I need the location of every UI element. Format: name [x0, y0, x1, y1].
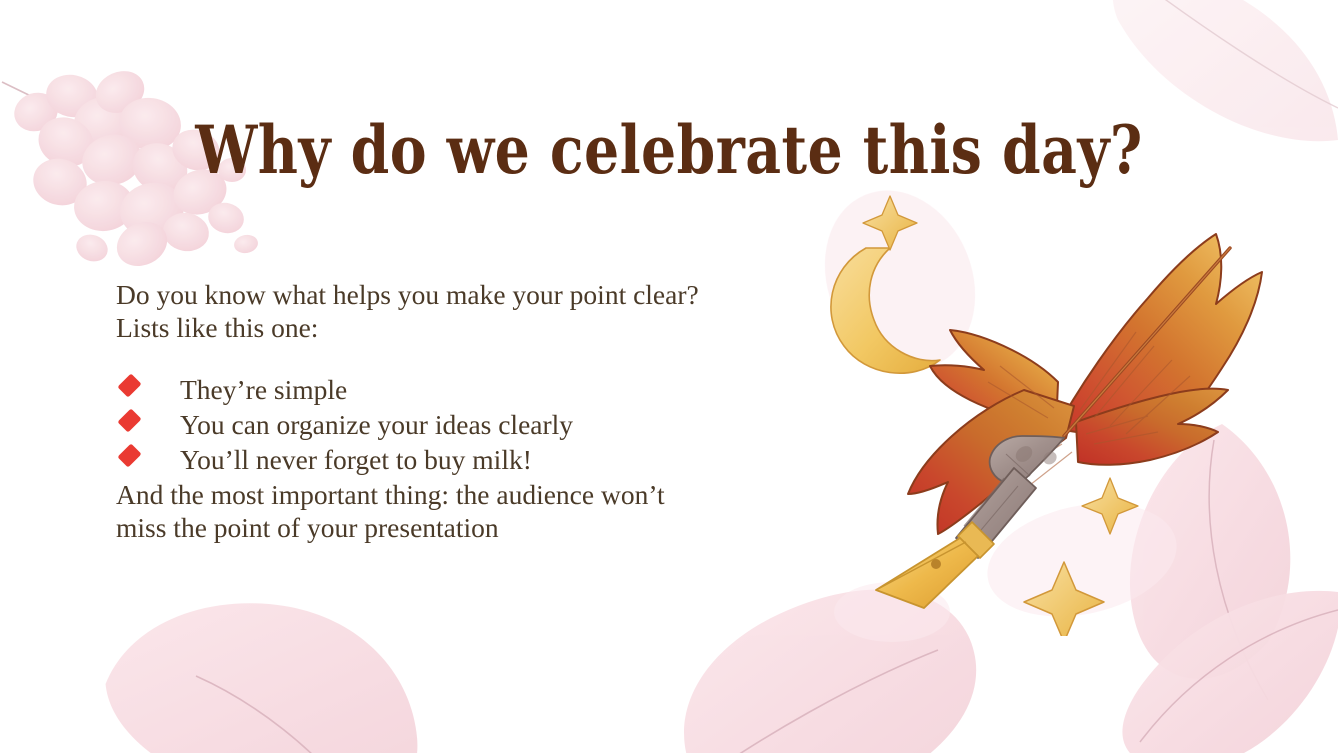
list-item: You can organize your ideas clearly	[116, 408, 816, 442]
list-item-label: You’ll never forget to buy milk!	[180, 443, 816, 477]
page-title: Why do we celebrate this day?	[47, 116, 1291, 185]
sparkle-star-icon	[1024, 562, 1104, 636]
pen-nib-icon	[876, 522, 994, 608]
list-item-label: You can organize your ideas clearly	[180, 408, 816, 442]
leaf-bottom-left	[92, 583, 435, 753]
closing-line-1: And the most important thing: the audien…	[116, 478, 816, 511]
closing-line-2: miss the point of your presentation	[116, 511, 816, 544]
bullet-list: They’re simple You can organize your ide…	[116, 373, 816, 477]
sparkle-star-icon	[1082, 478, 1138, 534]
list-item: They’re simple	[116, 373, 816, 407]
list-item: You’ll never forget to buy milk!	[116, 443, 816, 477]
intro-paragraph: Do you know what helps you make your poi…	[116, 278, 816, 344]
sparkle-star-icon	[863, 196, 917, 250]
slide-canvas: Why do we celebrate this day? Do you kno…	[0, 0, 1338, 753]
quill-pen-illustration	[818, 186, 1288, 636]
list-item-label: They’re simple	[180, 373, 816, 407]
intro-line-1: Do you know what helps you make your poi…	[116, 278, 816, 311]
feather-vane	[908, 234, 1262, 534]
closing-paragraph: And the most important thing: the audien…	[116, 478, 816, 544]
intro-line-2: Lists like this one:	[116, 311, 816, 344]
body-copy: Do you know what helps you make your poi…	[116, 278, 816, 544]
crescent-moon-icon	[831, 248, 940, 373]
